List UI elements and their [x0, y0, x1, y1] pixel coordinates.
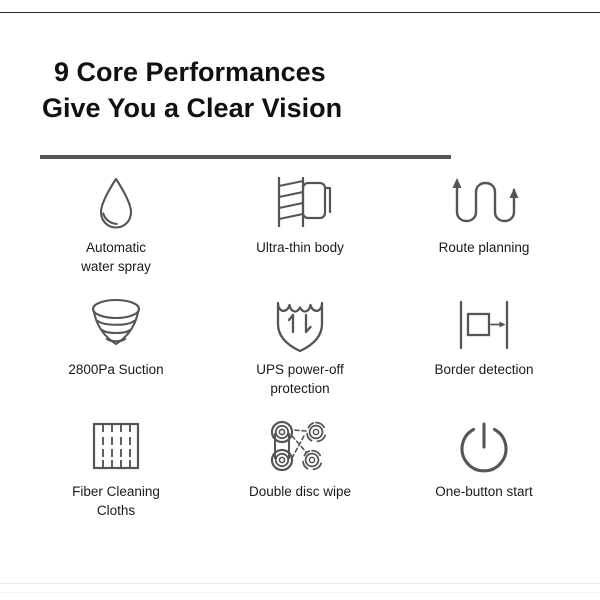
feature-item-ups-power-off-protection: UPS power-off protection [208, 294, 392, 416]
features-grid: Automatic water spray Ultra-thin b [24, 172, 576, 538]
feature-label-line-1: Double disc wipe [249, 482, 351, 501]
feature-label: UPS power-off protection [256, 360, 344, 398]
thin-body-caliper-icon [262, 172, 338, 234]
feature-label-line-1: UPS power-off [256, 360, 344, 379]
feature-label-line-2: protection [256, 379, 344, 398]
page-title: 9 Core Performances Give You a Clear Vis… [42, 54, 522, 126]
feature-item-route-planning: Route planning [392, 172, 576, 294]
serpentine-route-icon [445, 172, 523, 234]
feature-label: 2800Pa Suction [68, 360, 163, 379]
feature-label-line-1: Ultra-thin body [256, 238, 344, 257]
bottom-divider-rule-secondary [0, 592, 600, 593]
feature-label: Border detection [434, 360, 533, 379]
feature-label: Ultra-thin body [256, 238, 344, 257]
feature-item-suction: 2800Pa Suction [24, 294, 208, 416]
feature-label-line-1: Fiber Cleaning [72, 482, 160, 501]
water-drop-icon [88, 172, 144, 234]
top-divider-rule [0, 12, 600, 13]
feature-list-page: 9 Core Performances Give You a Clear Vis… [0, 0, 600, 600]
title-underline-divider [40, 155, 451, 159]
feature-label-line-1: Border detection [434, 360, 533, 379]
feature-label-line-1: 2800Pa Suction [68, 360, 163, 379]
feature-label-line-1: Automatic [81, 238, 151, 257]
feature-label-line-1: Route planning [439, 238, 530, 257]
feature-item-double-disc-wipe: Double disc wipe [208, 416, 392, 538]
feature-label-line-2: Cloths [72, 501, 160, 520]
border-detection-icon [452, 294, 516, 356]
feature-label-line-1: One-button start [435, 482, 533, 501]
feature-item-border-detection: Border detection [392, 294, 576, 416]
page-title-line-2: Give You a Clear Vision [42, 90, 522, 126]
feature-item-ultra-thin-body: Ultra-thin body [208, 172, 392, 294]
power-button-icon [454, 416, 514, 478]
bottom-divider-rule [0, 583, 600, 584]
feature-item-one-button-start: One-button start [392, 416, 576, 538]
double-disc-icon [265, 416, 335, 478]
feature-label: Double disc wipe [249, 482, 351, 501]
feature-label: One-button start [435, 482, 533, 501]
feature-label: Automatic water spray [81, 238, 151, 276]
feature-label: Route planning [439, 238, 530, 257]
fiber-cloth-icon [87, 416, 145, 478]
feature-item-automatic-water-spray: Automatic water spray [24, 172, 208, 294]
shield-power-icon [269, 294, 331, 356]
feature-item-fiber-cleaning-cloths: Fiber Cleaning Cloths [24, 416, 208, 538]
suction-vortex-icon [83, 294, 149, 356]
feature-label-line-2: water spray [81, 257, 151, 276]
feature-label: Fiber Cleaning Cloths [72, 482, 160, 520]
page-title-line-1: 9 Core Performances [42, 54, 522, 90]
